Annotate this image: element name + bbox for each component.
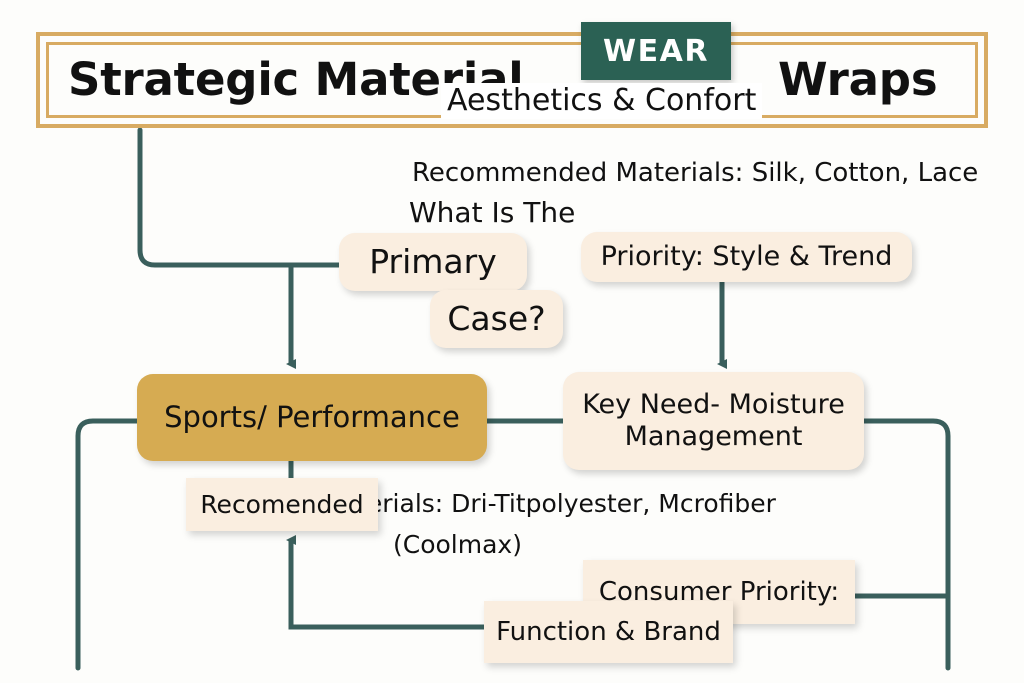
node-recommended-materials-label[interactable]: Recomended <box>186 478 378 531</box>
edge-sports-left-to-bottom <box>78 421 137 668</box>
node-priority-style-trend[interactable]: Priority: Style & Trend <box>581 232 912 282</box>
recommended-materials-line-2: (Coolmax) <box>393 530 522 559</box>
node-key-need-moisture[interactable]: Key Need- Moisture Management <box>563 372 864 470</box>
header-subtitle: Aesthetics & Confort <box>441 83 762 119</box>
edge-header-to-junction <box>140 130 291 265</box>
question-line-1: What Is The <box>409 196 575 229</box>
node-case[interactable]: Case? <box>430 290 563 348</box>
recommended-materials-rest-text: Maerials: Dri-Titpolyester, Mcrofiber <box>330 489 776 518</box>
edge-keyneed-right-to-bottom <box>864 421 948 668</box>
node-primary[interactable]: Primary <box>339 233 527 291</box>
flowchart-canvas: Strategic Material Wraps WEAR Aesthetics… <box>0 0 1024 683</box>
page-title-right: Wraps <box>778 46 937 114</box>
node-function-brand[interactable]: Function & Brand <box>484 601 733 663</box>
recommended-materials-top-text: Recommended Materials: Silk, Cotton, Lac… <box>412 158 978 188</box>
node-sports-performance[interactable]: Sports/ Performance <box>137 374 487 461</box>
wear-badge: WEAR <box>581 22 731 80</box>
